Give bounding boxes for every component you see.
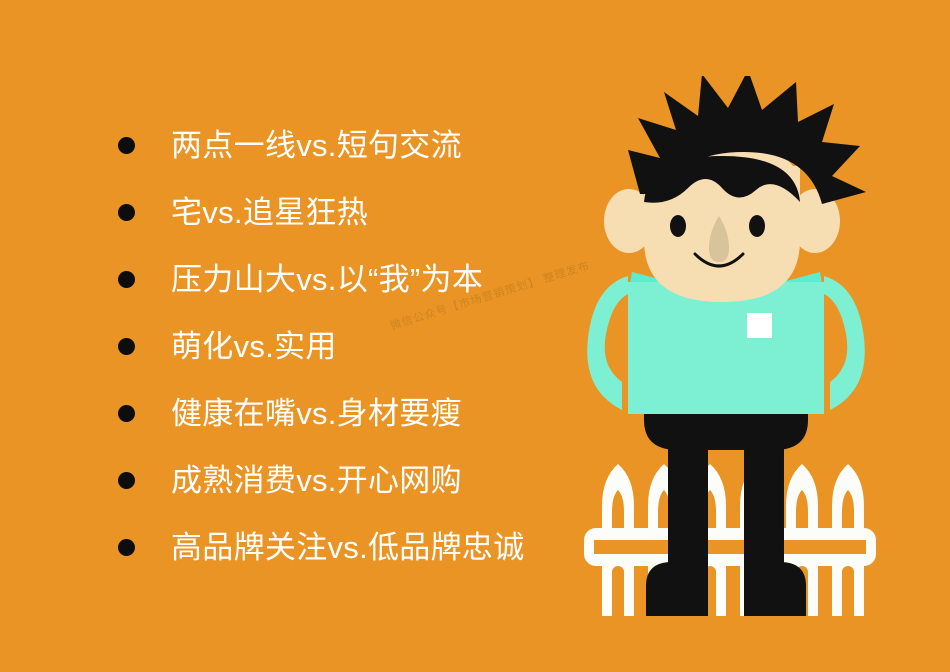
list-item: 健康在嘴vs.身材要瘦 bbox=[118, 380, 558, 447]
list-item-label: 压力山大vs.以“我”为本 bbox=[171, 264, 483, 295]
list-item-label: 两点一线vs.短句交流 bbox=[171, 130, 462, 161]
list-item-label: 成熟消费vs.开心网购 bbox=[171, 465, 462, 496]
bullet-dot-icon bbox=[118, 137, 135, 154]
right-arm bbox=[824, 276, 865, 410]
slide-canvas: 微信公众号【市场营销策划】 整理发布 两点一线vs.短句交流 宅vs.追星狂热 … bbox=[0, 0, 950, 672]
list-item: 宅vs.追星狂热 bbox=[118, 179, 558, 246]
list-item-label: 高品牌关注vs.低品牌忠诚 bbox=[171, 532, 525, 563]
list-item: 成熟消费vs.开心网购 bbox=[118, 447, 558, 514]
bullet-dot-icon bbox=[118, 204, 135, 221]
list-item-label: 健康在嘴vs.身材要瘦 bbox=[171, 398, 462, 429]
chest-pocket bbox=[747, 313, 772, 338]
bullet-list: 两点一线vs.短句交流 宅vs.追星狂热 压力山大vs.以“我”为本 萌化vs.… bbox=[118, 112, 558, 581]
bullet-dot-icon bbox=[118, 539, 135, 556]
picket-fence-icon bbox=[584, 464, 876, 616]
list-item-label: 萌化vs.实用 bbox=[171, 331, 337, 362]
list-item-label: 宅vs.追星狂热 bbox=[171, 197, 368, 228]
list-item: 高品牌关注vs.低品牌忠诚 bbox=[118, 514, 558, 581]
left-arm bbox=[587, 276, 628, 410]
bullet-dot-icon bbox=[118, 472, 135, 489]
list-item: 两点一线vs.短句交流 bbox=[118, 112, 558, 179]
bullet-dot-icon bbox=[118, 405, 135, 422]
list-item: 压力山大vs.以“我”为本 bbox=[118, 246, 558, 313]
bullet-dot-icon bbox=[118, 271, 135, 288]
right-eye bbox=[749, 215, 765, 237]
bullet-dot-icon bbox=[118, 338, 135, 355]
left-eye bbox=[670, 215, 686, 237]
list-item: 萌化vs.实用 bbox=[118, 313, 558, 380]
cartoon-boy-illustration bbox=[556, 76, 896, 616]
